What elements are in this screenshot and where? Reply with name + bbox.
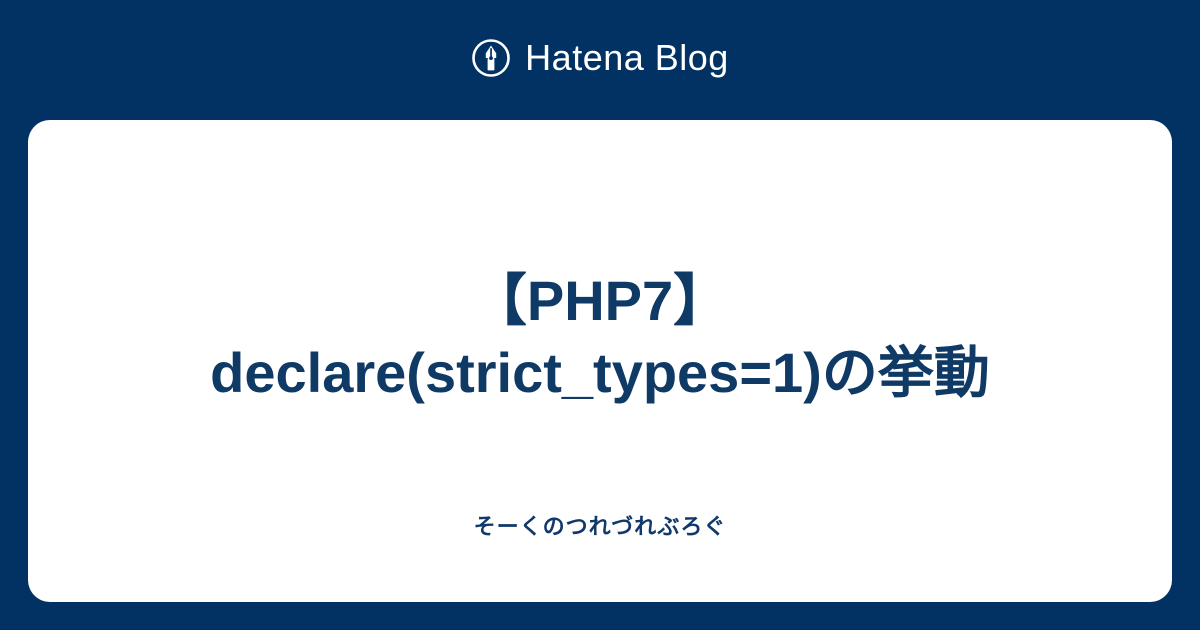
fountain-pen-nib-circle-icon [471,38,511,78]
brand-name: Hatena Blog [525,40,729,76]
entry-card: 【PHP7】declare(strict_types=1)の挙動 そーくのつれづ… [28,120,1172,602]
blog-title: そーくのつれづれぶろぐ [28,514,1172,540]
entry-title: 【PHP7】declare(strict_types=1)の挙動 [170,265,1030,408]
hatena-blog-brand[interactable]: Hatena Blog [471,38,729,78]
brand-header: Hatena Blog [0,0,1200,120]
